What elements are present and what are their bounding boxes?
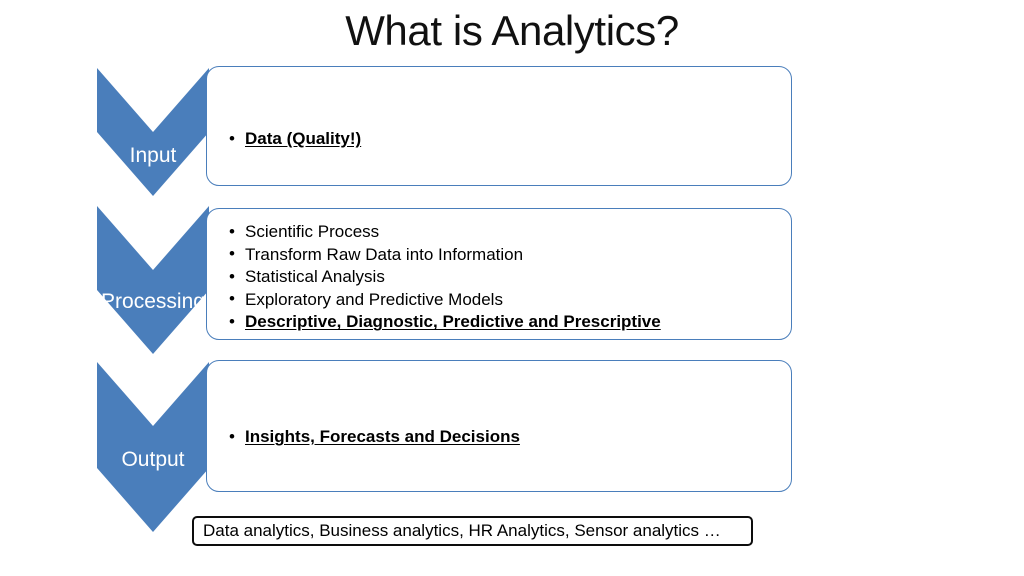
bullet-list-output: Insights, Forecasts and Decisions (221, 426, 777, 449)
stage-arrow-output: Output (97, 362, 209, 532)
list-item: Transform Raw Data into Information (221, 244, 777, 267)
stage-label-output: Output (121, 449, 184, 470)
stage-content-output: Insights, Forecasts and Decisions (206, 360, 792, 492)
stage-arrow-input: Input (97, 68, 209, 196)
footer-caption-text: Data analytics, Business analytics, HR A… (203, 521, 721, 541)
footer-caption-box: Data analytics, Business analytics, HR A… (192, 516, 753, 546)
stage-content-input: Data (Quality!) (206, 66, 792, 186)
down-arrow-icon (97, 68, 209, 196)
bullet-list-processing: Scientific Process Transform Raw Data in… (221, 221, 777, 334)
down-arrow-icon (97, 362, 209, 532)
list-item: Insights, Forecasts and Decisions (221, 426, 777, 449)
stage-label-input: Input (130, 145, 177, 166)
list-item: Statistical Analysis (221, 266, 777, 289)
stage-label-processing: Processing (101, 291, 205, 312)
stage-content-processing: Scientific Process Transform Raw Data in… (206, 208, 792, 340)
list-item: Data (Quality!) (221, 128, 777, 151)
list-item: Scientific Process (221, 221, 777, 244)
stage-arrow-processing: Processing (97, 206, 209, 354)
list-item: Descriptive, Diagnostic, Predictive and … (221, 311, 777, 334)
list-item: Exploratory and Predictive Models (221, 289, 777, 312)
page-title: What is Analytics? (0, 6, 1024, 56)
down-arrow-icon (97, 206, 209, 354)
bullet-list-input: Data (Quality!) (221, 128, 777, 151)
